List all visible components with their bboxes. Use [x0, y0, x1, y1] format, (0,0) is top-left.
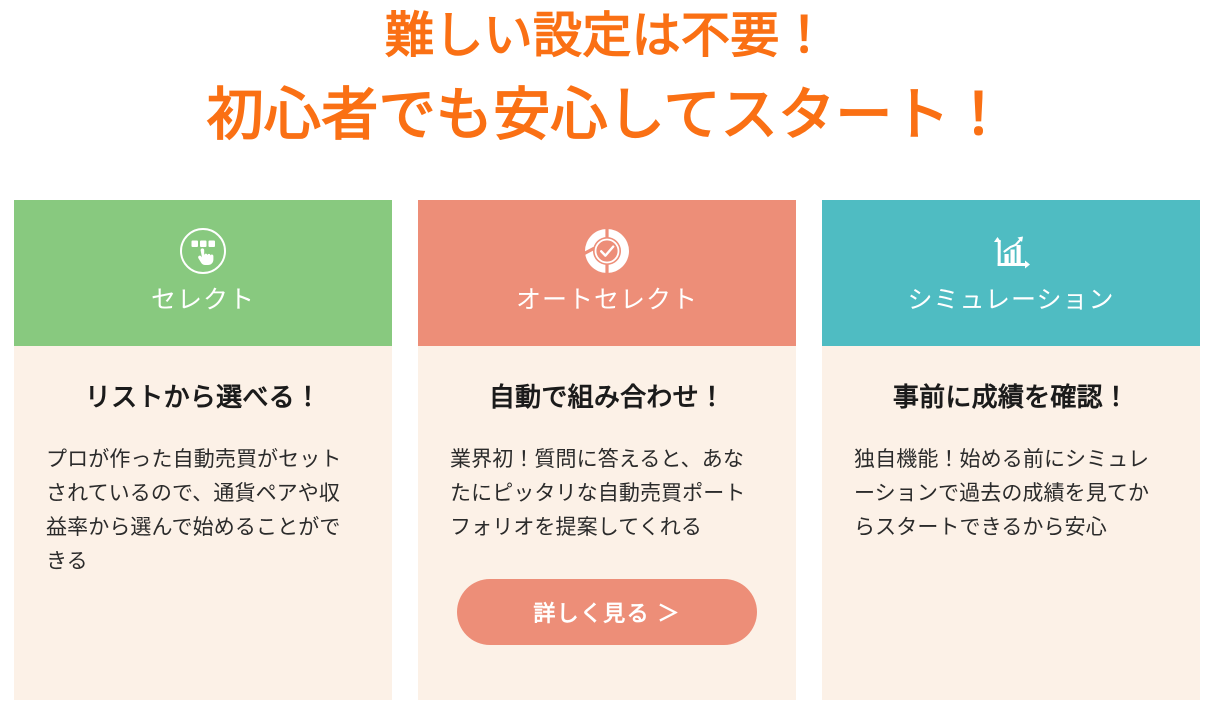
tap-select-icon	[178, 226, 228, 276]
card-body-simulation: 事前に成績を確認！ 独自機能！始める前にシミュレーションで過去の成績を見てからス…	[822, 346, 1200, 700]
card-body-auto-select: 自動で組み合わせ！ 業界初！質問に答えると、あなたにピッタリな自動売買ポートフォ…	[418, 346, 796, 700]
check-circle-icon	[582, 226, 632, 276]
card-cta-wrapper: 詳しく見る ＞	[450, 579, 764, 645]
card-body-select: リストから選べる！ プロが作った自動売買がセットされているので、通貨ペアや収益率…	[14, 346, 392, 700]
card-description: 独自機能！始める前にシミュレーションで過去の成績を見てからスタートできるから安心	[854, 443, 1168, 545]
bar-chart-growth-icon	[986, 226, 1036, 276]
card-header-auto-select: オートセレクト	[418, 200, 796, 346]
details-button[interactable]: 詳しく見る ＞	[457, 579, 757, 645]
feature-card-auto-select: オートセレクト 自動で組み合わせ！ 業界初！質問に答えると、あなたにピッタリな自…	[418, 200, 796, 700]
headline-line-2: 初心者でも安心してスタート！	[0, 78, 1214, 152]
card-description: 業界初！質問に答えると、あなたにピッタリな自動売買ポートフォリオを提案してくれる	[450, 443, 764, 545]
card-header-label: シミュレーション	[907, 285, 1114, 315]
card-header-label: セレクト	[151, 285, 255, 315]
page-headline: 難しい設定は不要！ 初心者でも安心してスタート！	[0, 0, 1214, 152]
feature-card-select: セレクト リストから選べる！ プロが作った自動売買がセットされているので、通貨ペ…	[14, 200, 392, 700]
card-title: 事前に成績を確認！	[893, 382, 1129, 413]
card-title: 自動で組み合わせ！	[489, 382, 725, 413]
feature-card-simulation: シミュレーション 事前に成績を確認！ 独自機能！始める前にシミュレーションで過去…	[822, 200, 1200, 700]
card-header-simulation: シミュレーション	[822, 200, 1200, 346]
headline-line-1: 難しい設定は不要！	[0, 4, 1214, 68]
feature-card-row: セレクト リストから選べる！ プロが作った自動売買がセットされているので、通貨ペ…	[14, 200, 1200, 700]
promo-page: 難しい設定は不要！ 初心者でも安心してスタート！ セレクト リストから選	[0, 0, 1214, 708]
card-description: プロが作った自動売買がセットされているので、通貨ペアや収益率から選んで始めること…	[46, 443, 360, 579]
card-title: リストから選べる！	[85, 382, 321, 413]
card-header-select: セレクト	[14, 200, 392, 346]
card-header-label: オートセレクト	[516, 285, 698, 315]
